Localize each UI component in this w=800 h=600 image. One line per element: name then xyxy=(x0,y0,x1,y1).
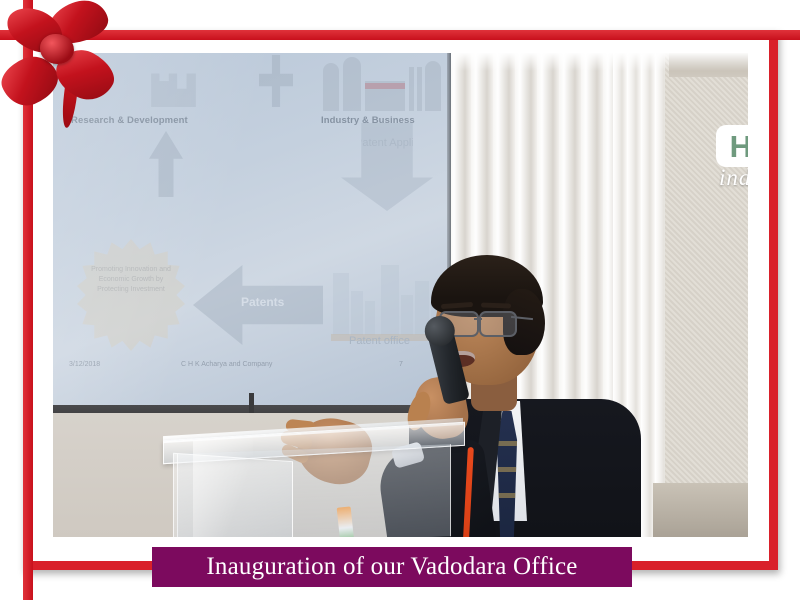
ribbon-horizontal xyxy=(0,30,800,40)
logo-plate: HK xyxy=(716,125,748,167)
logo-mark-text: HK xyxy=(730,131,748,162)
podium-glare xyxy=(193,437,253,537)
gift-bow-icon xyxy=(0,0,120,120)
arrow-down-patent-application: Patent Application xyxy=(341,123,433,211)
slide-label-patent-application: Patent Application xyxy=(355,137,443,149)
eyebrow-right xyxy=(481,302,511,308)
screen-stand-pole xyxy=(249,393,254,413)
factory-icon xyxy=(321,55,441,111)
logo-wordmark-text: india xyxy=(719,165,748,191)
eyeglass-bridge xyxy=(474,318,482,320)
event-photograph: Research & Development Industry & Busine… xyxy=(53,53,748,537)
greeting-card-page: Research & Development Industry & Busine… xyxy=(0,0,800,600)
caption-text: Inauguration of our Vadodara Office xyxy=(206,553,577,581)
caption-banner: Inauguration of our Vadodara Office xyxy=(152,547,632,587)
acrylic-podium xyxy=(163,413,463,537)
floor-strip xyxy=(653,483,748,537)
hk-india-logo: HK ® india xyxy=(716,109,748,193)
bow-knot xyxy=(40,34,74,64)
